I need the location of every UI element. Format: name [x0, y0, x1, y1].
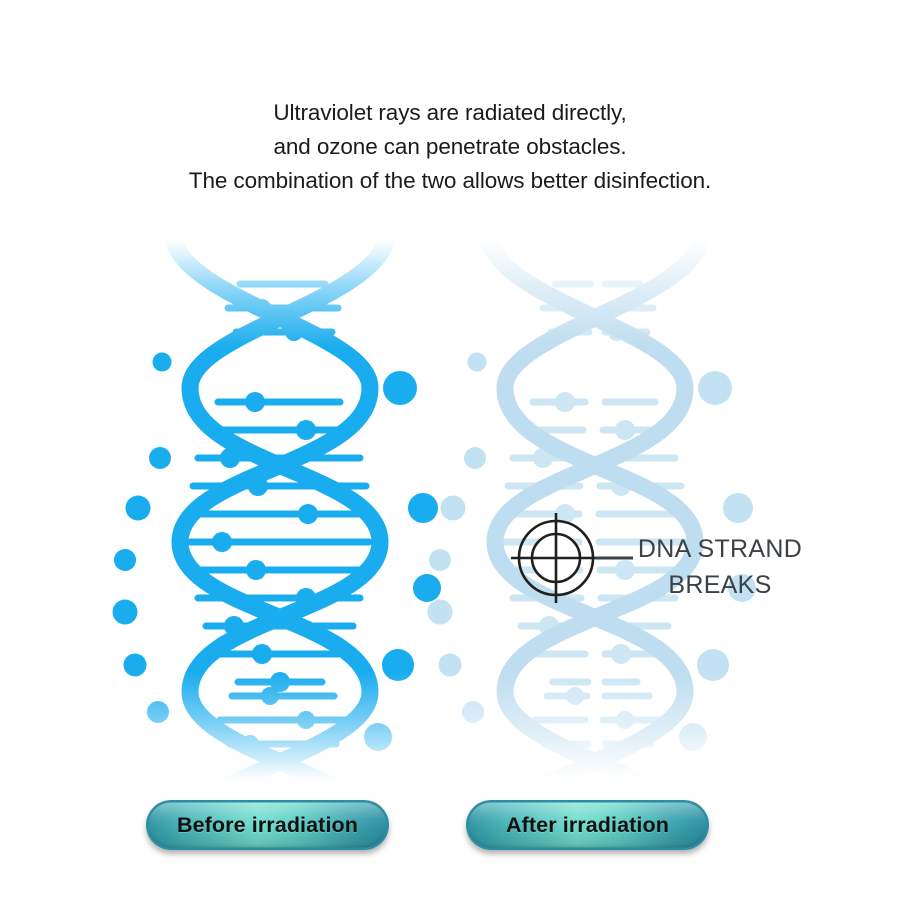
headline-line-2: and ozone can penetrate obstacles.	[0, 130, 900, 164]
helix-backbone-strands	[487, 240, 703, 780]
headline-line-3: The combination of the two allows better…	[0, 164, 900, 198]
headline-line-1: Ultraviolet rays are radiated directly,	[0, 96, 900, 130]
dna-strand-breaks-label: DNA STRAND BREAKS	[630, 531, 810, 603]
before-irradiation-button[interactable]: Before irradiation	[146, 800, 389, 850]
damaged-dna-helix	[425, 240, 765, 780]
headline-text: Ultraviolet rays are radiated directly, …	[0, 96, 900, 198]
after-irradiation-button[interactable]: After irradiation	[466, 800, 709, 850]
comparison-stage	[0, 240, 900, 780]
intact-dna-helix	[110, 240, 450, 780]
particle-cluster-left	[428, 353, 487, 724]
callout-label-line-2: BREAKS	[630, 567, 810, 603]
callout-label-line-1: DNA STRAND	[630, 531, 810, 567]
particle-cluster-left	[113, 353, 172, 724]
